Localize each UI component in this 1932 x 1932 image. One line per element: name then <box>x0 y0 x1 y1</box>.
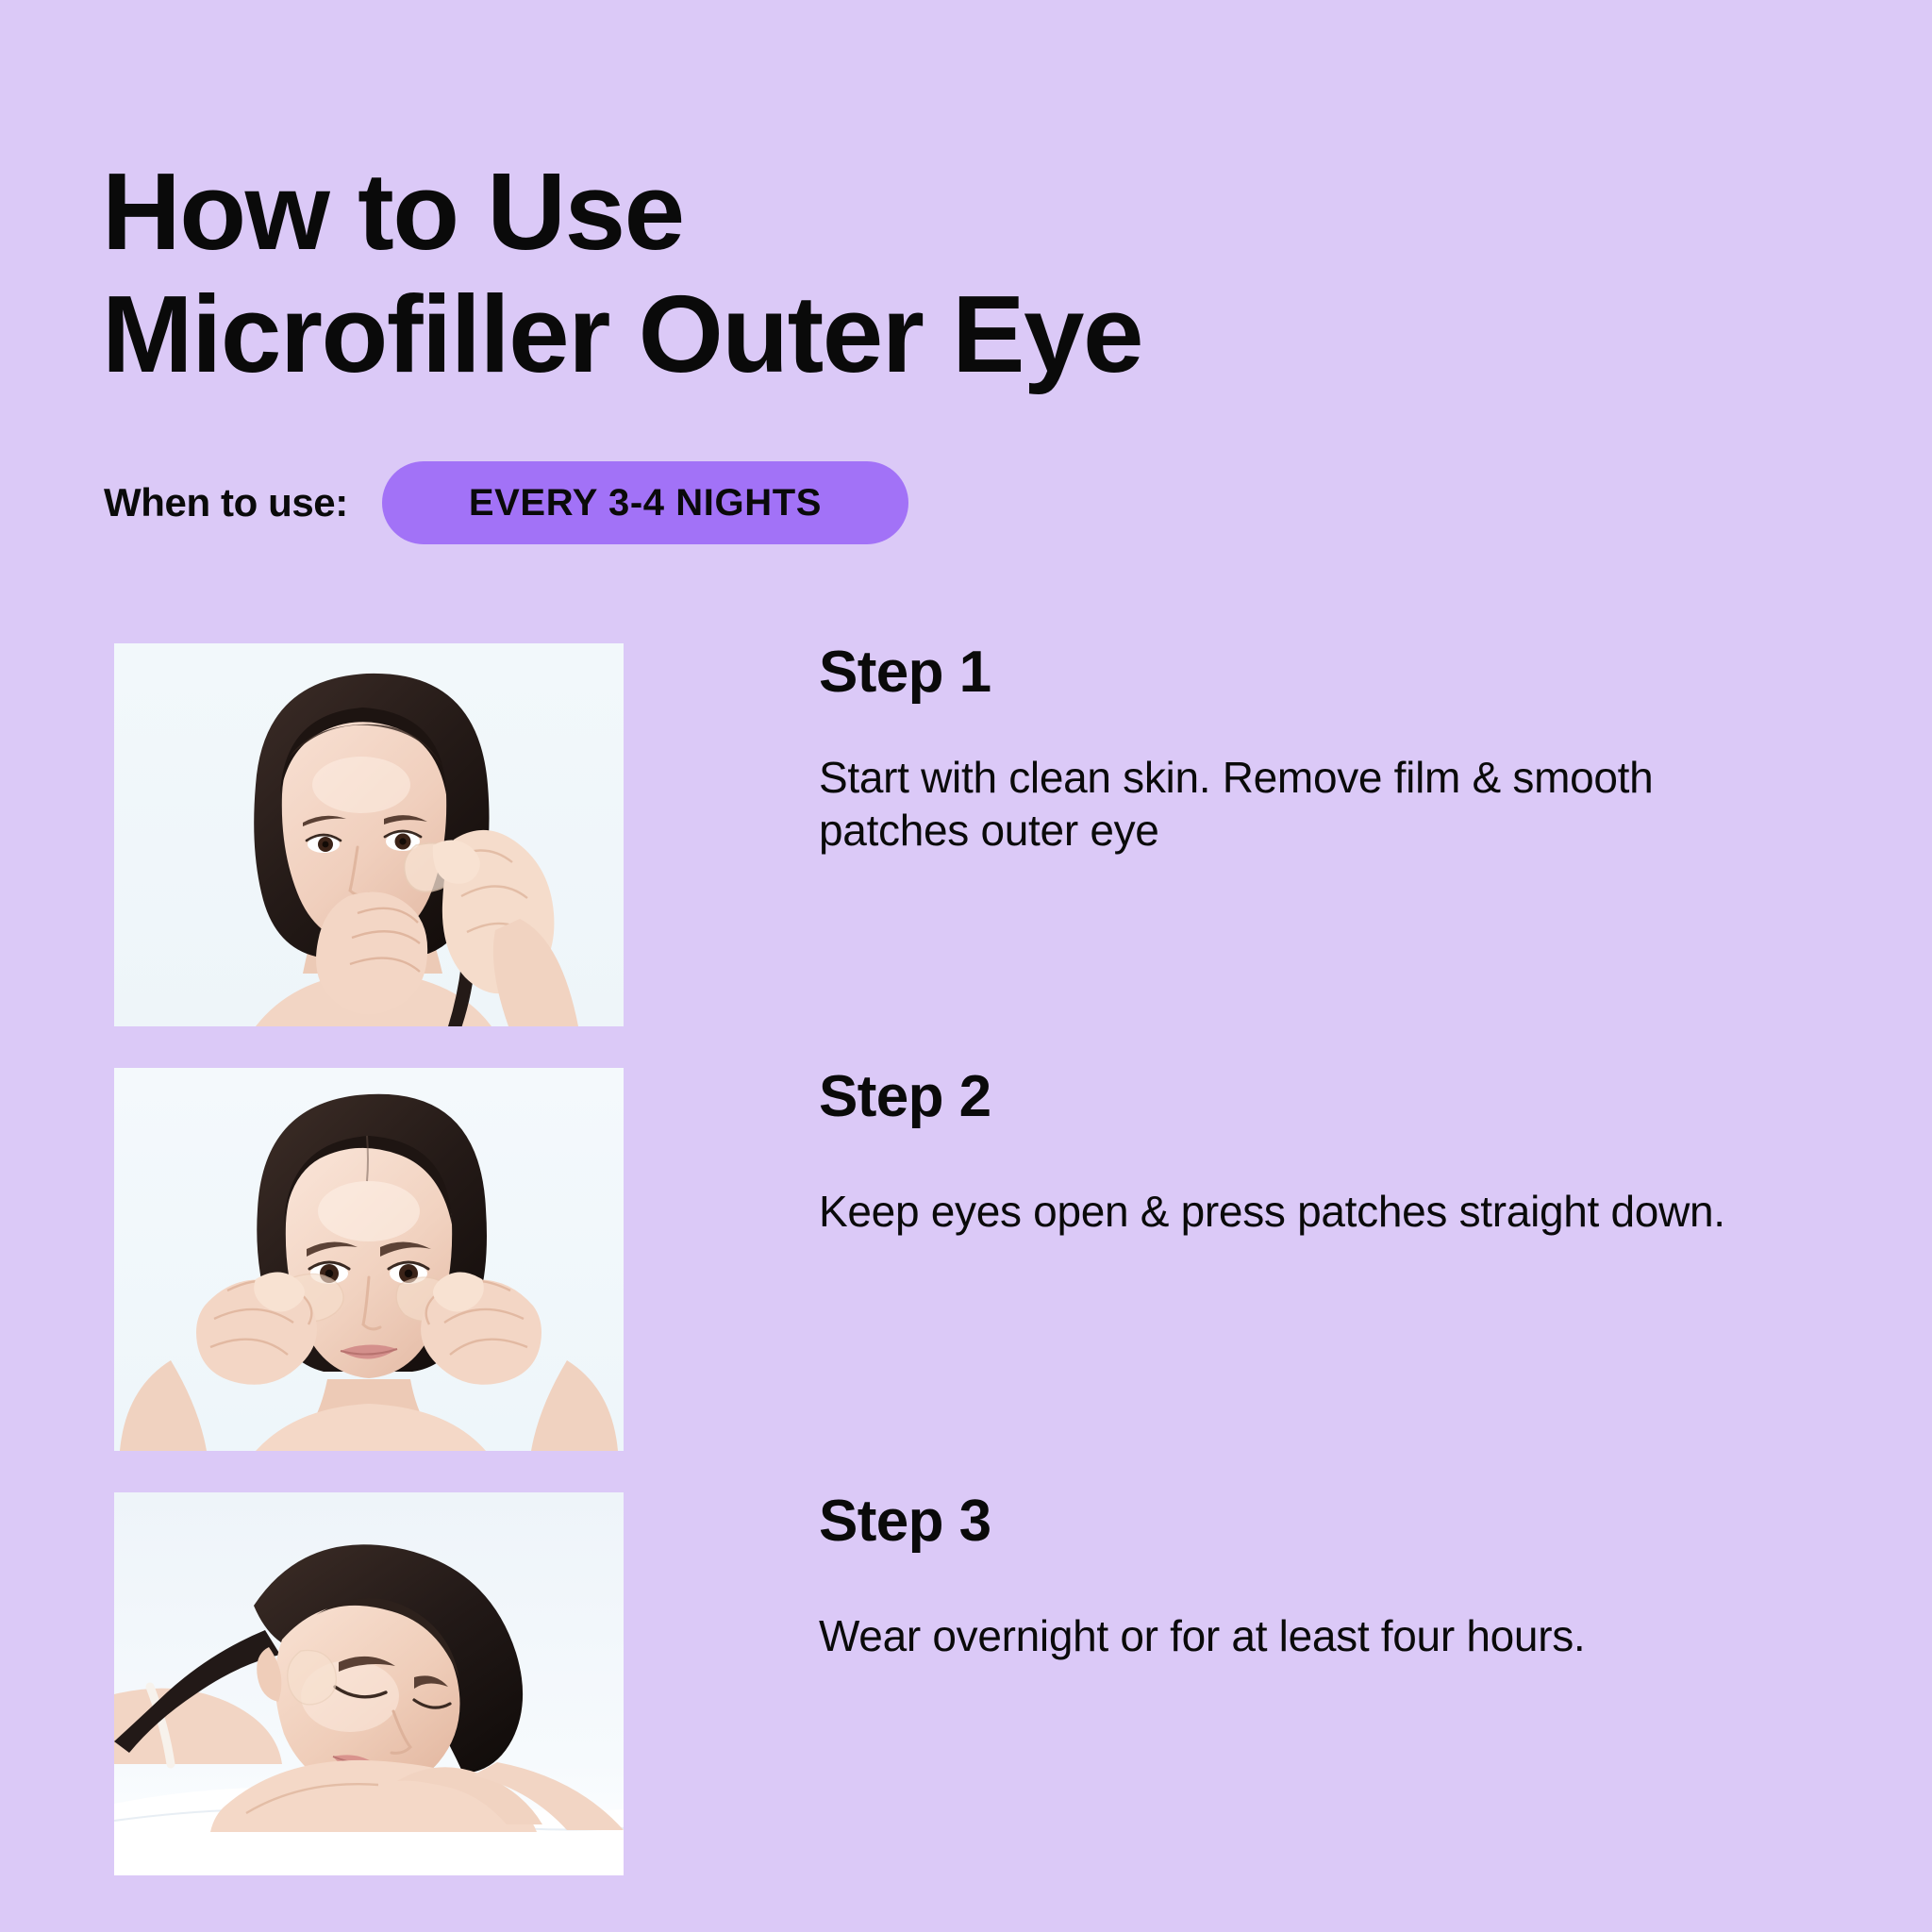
when-to-use-label: When to use: <box>104 480 348 525</box>
infographic-page: How to Use Microfiller Outer Eye When to… <box>0 0 1932 1932</box>
step-2-text: Step 2 Keep eyes open & press patches st… <box>819 1068 1819 1238</box>
step-2-body: Keep eyes open & press patches straight … <box>819 1185 1800 1238</box>
title-line-2: Microfiller Outer Eye <box>102 274 1800 396</box>
step-2-photo <box>114 1068 624 1451</box>
steps-list: Step 1 Start with clean skin. Remove fil… <box>0 643 1932 1917</box>
step-1-text: Step 1 Start with clean skin. Remove fil… <box>819 643 1819 857</box>
step-row: Step 2 Keep eyes open & press patches st… <box>0 1068 1932 1469</box>
step-3-title: Step 3 <box>819 1492 1819 1551</box>
frequency-badge-label: EVERY 3-4 NIGHTS <box>469 482 822 525</box>
title-line-1: How to Use <box>102 151 1800 274</box>
frequency-badge: EVERY 3-4 NIGHTS <box>382 461 908 544</box>
step-3-text: Step 3 Wear overnight or for at least fo… <box>819 1492 1819 1662</box>
step-3-photo <box>114 1492 624 1875</box>
page-title: How to Use Microfiller Outer Eye <box>102 151 1800 396</box>
step-1-title: Step 1 <box>819 643 1819 702</box>
step-row: Step 3 Wear overnight or for at least fo… <box>0 1492 1932 1893</box>
step-row: Step 1 Start with clean skin. Remove fil… <box>0 643 1932 1044</box>
when-to-use-row: When to use: EVERY 3-4 NIGHTS <box>104 458 908 548</box>
step-2-title: Step 2 <box>819 1068 1819 1126</box>
header: How to Use Microfiller Outer Eye <box>102 151 1800 396</box>
step-3-body: Wear overnight or for at least four hour… <box>819 1609 1800 1662</box>
step-1-body: Start with clean skin. Remove film & smo… <box>819 751 1800 857</box>
step-1-photo <box>114 643 624 1026</box>
